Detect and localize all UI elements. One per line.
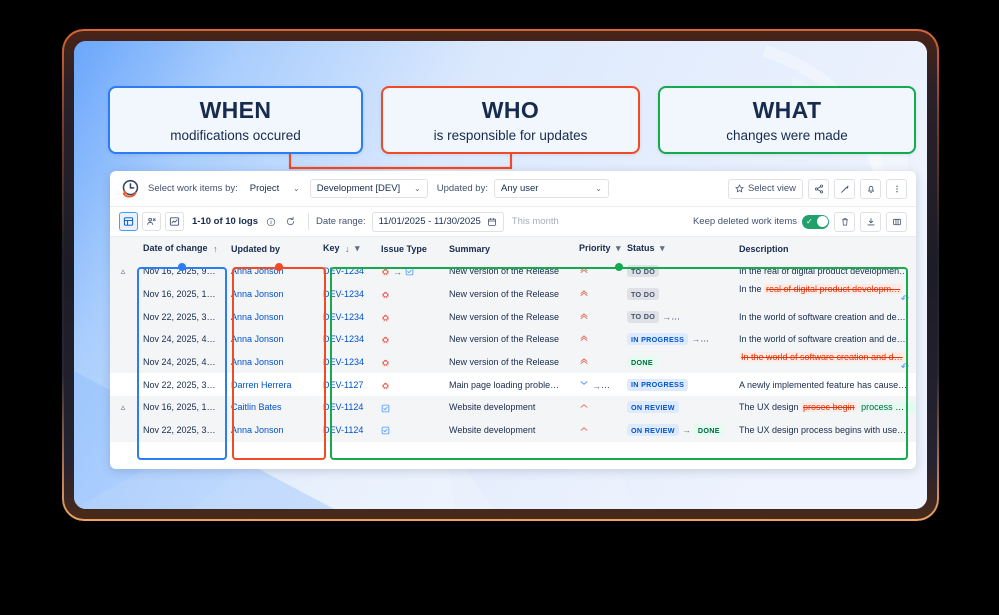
refresh-icon	[285, 216, 296, 227]
row-description-cell: A newly implemented feature has caused u…	[732, 373, 916, 396]
row-date-cell: Nov 22, 2025, 3:23 PM	[136, 305, 224, 328]
table-row[interactable]: Nov 22, 2025, 3:23 PMAnna JonsonDEV-1234…	[110, 305, 916, 328]
col-date-header[interactable]: Date of change ↑	[136, 237, 224, 260]
download-icon	[866, 217, 876, 227]
description-deleted: prosec begin	[801, 402, 857, 412]
col-type-label: Issue Type	[381, 244, 427, 254]
user-link[interactable]: Darren Herrera	[231, 380, 292, 390]
bug-icon	[381, 290, 390, 299]
row-expand-cell[interactable]: ▵	[110, 260, 136, 283]
col-summary-header[interactable]: Summary	[442, 237, 572, 260]
row-key-cell[interactable]: DEV-1234	[316, 351, 374, 374]
user-link[interactable]: Caitlin Bates	[231, 402, 282, 412]
row-date-cell: Nov 22, 2025, 3:23 PM	[136, 419, 224, 442]
table-row[interactable]: Nov 24, 2025, 4:02 PMAnna JonsonDEV-1234…	[110, 351, 916, 374]
row-issue-type-cell	[374, 373, 442, 396]
undo-icon[interactable]: ↶	[901, 294, 909, 305]
chevron-down-icon: ⌄	[595, 184, 602, 193]
callout-what: WHAT changes were made	[658, 86, 916, 154]
row-priority-cell	[572, 328, 620, 351]
description-text: A newly implemented feature has caused u…	[739, 380, 916, 390]
row-summary-cell: Website development	[442, 419, 572, 442]
callout-when-title: WHEN	[200, 97, 272, 124]
status-badge: ON REVIEW	[627, 424, 679, 436]
row-priority-cell	[572, 260, 620, 283]
refresh-button[interactable]	[282, 214, 298, 230]
change-arrow-icon: →	[393, 267, 402, 277]
issue-key-link[interactable]: DEV-1234	[323, 266, 364, 276]
col-key-label: Key	[323, 243, 340, 253]
date-range-value: 11/01/2025 - 11/30/2025	[379, 216, 481, 227]
delete-button[interactable]	[834, 212, 855, 232]
row-issue-type-cell	[374, 305, 442, 328]
row-summary-cell: New version of the Release	[442, 328, 572, 351]
table-row[interactable]: Nov 16, 2025, 10:32 AMAnna JonsonDEV-123…	[110, 283, 916, 306]
row-priority-cell	[572, 305, 620, 328]
select-view-label: Select view	[748, 183, 796, 194]
notifications-button[interactable]	[860, 179, 881, 199]
issue-key-link[interactable]: DEV-1124	[323, 402, 363, 412]
row-updated-by-cell[interactable]: Anna Jonson	[224, 283, 316, 306]
select-view-button[interactable]: Select view	[728, 179, 803, 199]
col-description-label: Description	[739, 244, 789, 254]
row-status-cell: TO DO	[620, 260, 732, 283]
task-icon	[405, 267, 414, 276]
row-priority-cell	[572, 351, 620, 374]
row-issue-type-cell: →	[374, 260, 442, 283]
row-summary-cell: Website development	[442, 396, 572, 419]
col-priority-header[interactable]: Priority ▾	[572, 237, 620, 260]
row-expand-cell[interactable]	[110, 283, 136, 306]
keep-deleted-toggle[interactable]: ✓	[802, 215, 829, 229]
issue-key-link[interactable]: DEV-1234	[323, 289, 364, 299]
table-row[interactable]: Nov 24, 2025, 4:00 PMAnna JonsonDEV-1234…	[110, 328, 916, 351]
row-priority-cell	[572, 396, 620, 419]
people-view-icon	[146, 216, 157, 227]
user-select-value: Any user	[501, 183, 539, 194]
change-arrow-icon: →	[691, 334, 700, 344]
issue-key-link[interactable]: DEV-1234	[323, 357, 364, 367]
row-date-cell: Nov 16, 2025, 10:32 AM	[136, 283, 224, 306]
row-updated-by-cell[interactable]: Anna Jonson	[224, 419, 316, 442]
priority-highest-icon	[579, 288, 589, 298]
row-priority-cell: →	[572, 373, 620, 396]
row-expand-cell[interactable]	[110, 373, 136, 396]
star-icon	[735, 184, 744, 193]
bell-icon	[866, 184, 876, 194]
row-status-cell: ON REVIEW	[620, 396, 732, 419]
col-type-header[interactable]: Issue Type	[374, 237, 442, 260]
history-table: Date of change ↑ Updated by Key ↓ ▾	[110, 237, 916, 442]
change-arrow-icon: →	[592, 381, 601, 391]
col-status-label: Status	[627, 243, 655, 253]
row-expand-cell[interactable]	[110, 305, 136, 328]
view-table-button[interactable]	[119, 212, 138, 231]
row-expand-cell[interactable]	[110, 419, 136, 442]
view-chart-button[interactable]	[165, 212, 184, 231]
caret-up-icon[interactable]: ▵	[121, 266, 126, 276]
bug-icon	[381, 381, 390, 390]
row-updated-by-cell[interactable]: Anna Jonson	[224, 328, 316, 351]
row-date-cell: Nov 16, 2025, 10:32 AM	[136, 396, 224, 419]
date-range-input[interactable]: 11/01/2025 - 11/30/2025	[372, 212, 504, 232]
table-view-icon	[123, 216, 134, 227]
info-button[interactable]	[263, 214, 279, 230]
col-date-label: Date of change	[143, 243, 208, 253]
secondary-toolbar: 1-10 of 10 logs	[110, 207, 916, 237]
description-inserted: process begins	[859, 402, 916, 412]
description-text: In the	[739, 284, 764, 294]
priority-highest-icon	[579, 265, 589, 275]
callout-what-title: WHAT	[753, 97, 822, 124]
priority-high-icon	[579, 401, 589, 411]
scope-select-value: Project	[250, 183, 280, 194]
priority-highest-icon	[579, 333, 589, 343]
bug-icon	[381, 313, 390, 322]
user-link[interactable]: Anna Jonson	[231, 357, 284, 367]
row-status-cell: DONE	[620, 351, 732, 374]
user-link[interactable]: Anna Jonson	[231, 312, 284, 322]
row-description-cell: In the real of digital product developm……	[732, 283, 916, 306]
date-preset-label: This month	[512, 216, 559, 227]
col-updated-header[interactable]: Updated by	[224, 237, 316, 260]
row-description-cell: In the world of software creation and de…	[732, 305, 916, 328]
row-description-cell: The UX design prosec begin process begin…	[732, 396, 916, 419]
description-deleted: real of digital product developm…	[764, 284, 902, 294]
status-badge: TO DO	[627, 288, 659, 300]
description-text: In the real of digital product developme…	[739, 266, 916, 276]
status-badge: TO DO	[627, 311, 659, 323]
description-text: In the world of software creation and de…	[739, 334, 916, 344]
chevron-down-icon: ⌄	[414, 184, 421, 193]
status-badge: TO DO	[627, 265, 659, 277]
row-status-cell: TO DO	[620, 283, 732, 306]
row-description-cell: In the world of software creation and d……	[732, 351, 916, 374]
status-badge: IN PROGRESS	[674, 311, 732, 323]
keep-deleted-label: Keep deleted work items	[693, 216, 797, 227]
row-updated-by-cell[interactable]: Darren Herrera	[224, 373, 316, 396]
row-summary-cell: New version of the Release	[442, 260, 572, 283]
row-expand-cell[interactable]	[110, 328, 136, 351]
row-status-cell: IN PROGRESS→DONE	[620, 328, 732, 351]
callout-when-subtitle: modifications occured	[170, 128, 301, 143]
updated-by-label: Updated by:	[437, 183, 488, 194]
toggle-knob	[817, 216, 828, 227]
row-issue-type-cell	[374, 351, 442, 374]
callout-when: WHEN modifications occured	[108, 86, 363, 154]
row-key-cell[interactable]: DEV-1124	[316, 419, 374, 442]
change-arrow-icon: →	[662, 312, 671, 322]
row-status-cell: ON REVIEW→DONE	[620, 419, 732, 442]
priority-highest-icon	[579, 311, 589, 321]
callout-who-subtitle: is responsible for updates	[434, 128, 588, 143]
connector-dot-red	[275, 263, 283, 271]
row-key-cell[interactable]: DEV-1234	[316, 283, 374, 306]
row-updated-by-cell[interactable]: Caitlin Bates	[224, 396, 316, 419]
description-text: The UX design process begins with user r…	[739, 425, 916, 435]
connector-dot-blue	[178, 263, 186, 271]
trash-icon	[840, 217, 850, 227]
row-issue-type-cell	[374, 419, 442, 442]
magic-wand-button[interactable]	[834, 179, 855, 199]
calendar-icon	[487, 217, 497, 227]
callout-who: WHO is responsible for updates	[381, 86, 640, 154]
col-summary-label: Summary	[449, 244, 490, 254]
bug-icon	[381, 267, 390, 276]
row-key-cell[interactable]: DEV-1127	[316, 373, 374, 396]
export-button[interactable]	[860, 212, 881, 232]
priority-low-icon	[579, 378, 589, 388]
row-key-cell[interactable]: DEV-1124	[316, 396, 374, 419]
sort-desc-icon[interactable]: ↓	[345, 244, 350, 254]
columns-button[interactable]	[886, 212, 907, 232]
issue-key-link[interactable]: DEV-1234	[323, 334, 364, 344]
chevron-down-icon: ⌄	[293, 184, 300, 193]
table-head: Date of change ↑ Updated by Key ↓ ▾	[110, 237, 916, 260]
priority-high-icon	[579, 424, 589, 434]
callout-who-title: WHO	[482, 97, 539, 124]
row-updated-by-cell[interactable]: Anna Jonson	[224, 260, 316, 283]
col-priority-label: Priority	[579, 243, 611, 253]
issue-key-link[interactable]: DEV-1234	[323, 312, 364, 322]
device-screen: WHEN modifications occured WHO is respon…	[74, 41, 927, 509]
row-priority-cell	[572, 283, 620, 306]
row-updated-by-cell[interactable]: Anna Jonson	[224, 305, 316, 328]
row-summary-cell: Main page loading problem issue	[442, 373, 572, 396]
table-row[interactable]: ▵Nov 16, 2025, 10:32 AMCaitlin BatesDEV-…	[110, 396, 916, 419]
description-deleted: In the world of software creation and d…	[739, 352, 905, 362]
row-key-cell[interactable]: DEV-1234	[316, 328, 374, 351]
user-link[interactable]: Anna Jonson	[231, 334, 284, 344]
filter-icon[interactable]: ▾	[616, 243, 621, 253]
user-select[interactable]: Any user ⌄	[494, 179, 609, 198]
device-bezel: WHEN modifications occured WHO is respon…	[62, 29, 939, 521]
row-key-cell[interactable]: DEV-1234	[316, 260, 374, 283]
col-status-header[interactable]: Status ▾	[620, 237, 732, 260]
col-description-header[interactable]: Description	[732, 237, 916, 260]
row-description-cell: The UX design process begins with user r…	[732, 419, 916, 442]
date-range-label: Date range:	[316, 216, 366, 227]
filter-icon[interactable]: ▾	[355, 243, 360, 253]
task-icon	[381, 404, 390, 413]
row-summary-cell: New version of the Release	[442, 305, 572, 328]
info-icon	[266, 217, 276, 227]
col-key-header[interactable]: Key ↓ ▾	[316, 237, 374, 260]
share-button[interactable]	[808, 179, 829, 199]
more-vertical-icon	[892, 184, 902, 194]
row-priority-cell	[572, 419, 620, 442]
priority-highest-icon	[579, 356, 589, 366]
filter-icon[interactable]: ▾	[660, 243, 665, 253]
description-text: The UX design	[739, 402, 801, 412]
share-icon	[814, 184, 824, 194]
table-body: ▵Nov 16, 2025, 9:45 AMAnna JonsonDEV-123…	[110, 260, 916, 442]
sort-asc-icon[interactable]: ↑	[213, 244, 218, 254]
bug-icon	[381, 358, 390, 367]
col-expand-header	[110, 237, 136, 260]
issue-key-link[interactable]: DEV-1127	[323, 380, 363, 390]
project-select[interactable]: Development [DEV] ⌄	[310, 179, 428, 198]
bug-icon	[381, 335, 390, 344]
table-row[interactable]: Nov 22, 2025, 3:23 PMAnna JonsonDEV-1124…	[110, 419, 916, 442]
clock-history-icon	[119, 178, 141, 200]
row-date-cell: Nov 24, 2025, 4:00 PM	[136, 328, 224, 351]
logs-count: 1-10 of 10 logs	[192, 216, 258, 227]
status-badge: DONE	[694, 424, 724, 436]
issue-key-link[interactable]: DEV-1124	[323, 425, 363, 435]
row-status-cell: IN PROGRESS	[620, 373, 732, 396]
status-badge: ON REVIEW	[627, 401, 679, 413]
change-arrow-icon: →	[682, 425, 691, 435]
magic-wand-icon	[840, 184, 850, 194]
more-options-button[interactable]	[886, 179, 907, 199]
project-select-value: Development [DEV]	[317, 183, 400, 194]
row-key-cell[interactable]: DEV-1234	[316, 305, 374, 328]
status-badge: DONE	[627, 356, 657, 368]
status-badge: IN PROGRESS	[627, 333, 688, 345]
row-issue-type-cell	[374, 396, 442, 419]
chart-view-icon	[169, 216, 180, 227]
callout-what-subtitle: changes were made	[726, 128, 848, 143]
connector-dot-green	[615, 263, 623, 271]
row-description-cell: In the world of software creation and de…	[732, 328, 916, 351]
row-description-cell: In the real of digital product developme…	[732, 260, 916, 283]
col-updated-label: Updated by	[231, 244, 280, 254]
scope-select[interactable]: Project ⌄	[244, 179, 306, 198]
caret-up-icon[interactable]: ▵	[121, 402, 126, 412]
table-row[interactable]: ▵Nov 16, 2025, 9:45 AMAnna JonsonDEV-123…	[110, 260, 916, 283]
work-item-history-panel: Select work items by: Project ⌄ Developm…	[110, 171, 916, 469]
primary-toolbar: Select work items by: Project ⌄ Developm…	[110, 171, 916, 207]
row-issue-type-cell	[374, 328, 442, 351]
row-date-cell: Nov 22, 2025, 3:23 PM	[136, 373, 224, 396]
row-date-cell: Nov 24, 2025, 4:02 PM	[136, 351, 224, 374]
row-expand-cell[interactable]	[110, 351, 136, 374]
row-status-cell: TO DO→IN PROGRESS	[620, 305, 732, 328]
user-link[interactable]: Anna Jonson	[231, 289, 284, 299]
priority-change-group: →	[579, 380, 614, 390]
user-link[interactable]: Anna Jonson	[231, 425, 284, 435]
columns-icon	[892, 217, 902, 227]
row-issue-type-cell	[374, 283, 442, 306]
status-badge: IN PROGRESS	[627, 379, 688, 391]
toolbar-divider	[308, 213, 309, 230]
table-row[interactable]: Nov 22, 2025, 3:23 PMDarren HerreraDEV-1…	[110, 373, 916, 396]
view-people-button[interactable]	[142, 212, 161, 231]
table-header-row: Date of change ↑ Updated by Key ↓ ▾	[110, 237, 916, 260]
row-updated-by-cell[interactable]: Anna Jonson	[224, 351, 316, 374]
check-icon: ✓	[806, 217, 813, 227]
row-summary-cell: New version of the Release	[442, 351, 572, 374]
screenshot-stage: WHEN modifications occured WHO is respon…	[0, 0, 999, 615]
row-summary-cell: New version of the Release	[442, 283, 572, 306]
undo-icon[interactable]: ↶	[901, 362, 909, 373]
task-icon	[381, 426, 390, 435]
select-items-label: Select work items by:	[148, 183, 238, 194]
description-text: In the world of software creation and de…	[739, 312, 916, 322]
row-expand-cell[interactable]: ▵	[110, 396, 136, 419]
